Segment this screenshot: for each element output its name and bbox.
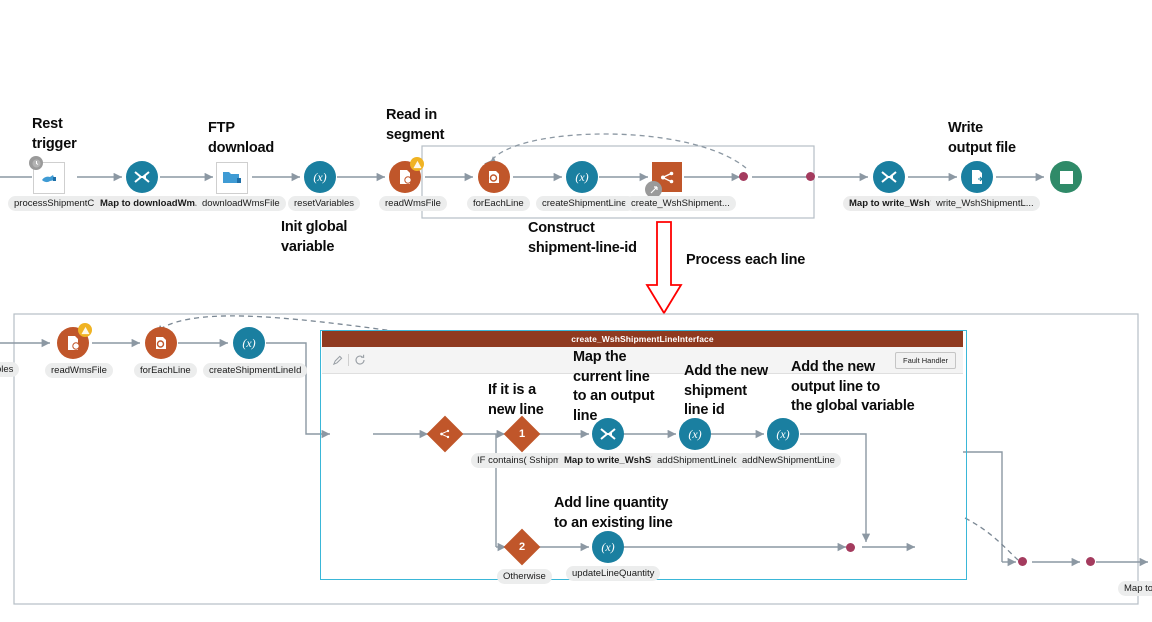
- write-file-icon: [969, 169, 985, 185]
- label-for-each-line: forEachLine: [467, 196, 530, 211]
- rest-trigger-icon: [39, 168, 59, 188]
- annotation-map-current-line: Map the current line to an output line: [573, 348, 654, 426]
- label-add-new-shipment-line: addNewShipmentLine: [736, 453, 841, 468]
- node-for-each-line[interactable]: [478, 161, 510, 193]
- read-file-icon: [65, 335, 81, 351]
- label-map-to-clipped: Map to: [1118, 581, 1152, 596]
- node-download-wms-file[interactable]: [216, 162, 248, 194]
- warning-badge-icon: [410, 157, 424, 171]
- node-reset-variables[interactable]: (x): [304, 161, 336, 193]
- merge-dot: [739, 172, 748, 181]
- annotation-process-each-line: Process each line: [686, 251, 805, 271]
- map-icon: [134, 169, 151, 186]
- annotation-write-output-file: Write output file: [948, 119, 1016, 158]
- label-read-wms-file: readWmsFile: [379, 196, 447, 211]
- node-write-wsh-shipment-l[interactable]: [961, 161, 993, 193]
- label-for-each-line-2: forEachLine: [134, 363, 197, 378]
- rest-trigger-badge-icon: [29, 156, 43, 170]
- stop-icon: [1060, 171, 1073, 184]
- merge-dot: [846, 543, 855, 552]
- label-create-wsh-shipment: create_WshShipment...: [625, 196, 736, 211]
- map-icon: [600, 426, 617, 443]
- assign-variable-icon: (x): [688, 427, 701, 442]
- warning-badge-icon: [78, 323, 92, 337]
- for-each-loop-icon: [486, 169, 502, 185]
- label-map-to-download-wms: Map to downloadWm...: [94, 196, 209, 211]
- branch-1-number: 1: [509, 421, 535, 447]
- assign-variable-icon: (x): [575, 170, 588, 185]
- refresh-icon[interactable]: [351, 351, 369, 369]
- node-update-line-quantity[interactable]: (x): [592, 531, 624, 563]
- label-read-wms-file-2: readWmsFile: [45, 363, 113, 378]
- annotation-init-global-variable: Init global variable: [281, 218, 347, 257]
- node-map-to-write-wsh-shi[interactable]: [873, 161, 905, 193]
- node-switch[interactable]: [427, 416, 464, 453]
- edit-pen-icon[interactable]: [328, 351, 346, 369]
- annotation-rest-trigger: Rest trigger: [32, 115, 77, 154]
- label-branch-2-condition: Otherwise: [497, 569, 552, 584]
- label-write-wsh-shipment-l: write_WshShipmentL...: [930, 196, 1040, 211]
- annotation-read-in-segment: Read in segment: [386, 106, 444, 145]
- merge-dot: [806, 172, 815, 181]
- switch-icon: [432, 421, 458, 447]
- toolbar-divider: [348, 354, 349, 366]
- annotation-add-new-shipment-line-id: Add the new shipment line id: [684, 362, 768, 421]
- node-branch-1[interactable]: 1: [504, 416, 541, 453]
- merge-dot: [1086, 557, 1095, 566]
- annotation-ftp-download: FTP download: [208, 119, 274, 158]
- map-icon: [881, 169, 898, 186]
- scope-branch-icon: [659, 169, 676, 186]
- assign-variable-icon: (x): [313, 170, 326, 185]
- node-for-each-line-2[interactable]: [145, 327, 177, 359]
- label-reset-variables: resetVariables: [288, 196, 360, 211]
- label-update-line-quantity: updateLineQuantity: [566, 566, 660, 581]
- node-add-new-shipment-line[interactable]: (x): [767, 418, 799, 450]
- ftp-folder-icon: [222, 169, 242, 187]
- node-branch-2[interactable]: 2: [504, 529, 541, 566]
- annotation-construct-shipment-line-id: Construct shipment-line-id: [528, 219, 637, 258]
- label-create-shipment-line-id-2: createShipmentLineId: [203, 363, 307, 378]
- node-map-to-download-wms[interactable]: [126, 161, 158, 193]
- annotation-add-line-quantity: Add line quantity to an existing line: [554, 494, 673, 533]
- assign-variable-icon: (x): [776, 427, 789, 442]
- assign-variable-icon: (x): [601, 540, 614, 555]
- annotation-if-it-is-a-new-line: If it is a new line: [488, 381, 544, 420]
- node-create-shipment-line-i[interactable]: (x): [566, 161, 598, 193]
- annotation-add-new-output-line: Add the new output line to the global va…: [791, 358, 915, 417]
- node-create-shipment-line-id-2[interactable]: (x): [233, 327, 265, 359]
- node-add-shipment-line-id[interactable]: (x): [679, 418, 711, 450]
- branch-2-number: 2: [509, 534, 535, 560]
- node-end[interactable]: [1050, 161, 1082, 193]
- for-each-loop-icon: [153, 335, 169, 351]
- read-file-icon: [397, 169, 413, 185]
- label-download-wms-file: downloadWmsFile: [196, 196, 286, 211]
- node-map-to-write-wsh-shi-2[interactable]: [592, 418, 624, 450]
- diagram-canvas: Rest trigger FTP download Read in segmen…: [0, 0, 1152, 622]
- label-add-shipment-line-id: addShipmentLineId: [651, 453, 745, 468]
- assign-variable-icon: (x): [242, 336, 255, 351]
- label-create-shipment-line-i: createShipmentLineI: [536, 196, 635, 211]
- label-reset-variables-clipped: bles: [0, 362, 19, 377]
- panel-title: create_WshShipmentLineInterface: [322, 331, 963, 347]
- merge-dot: [1018, 557, 1027, 566]
